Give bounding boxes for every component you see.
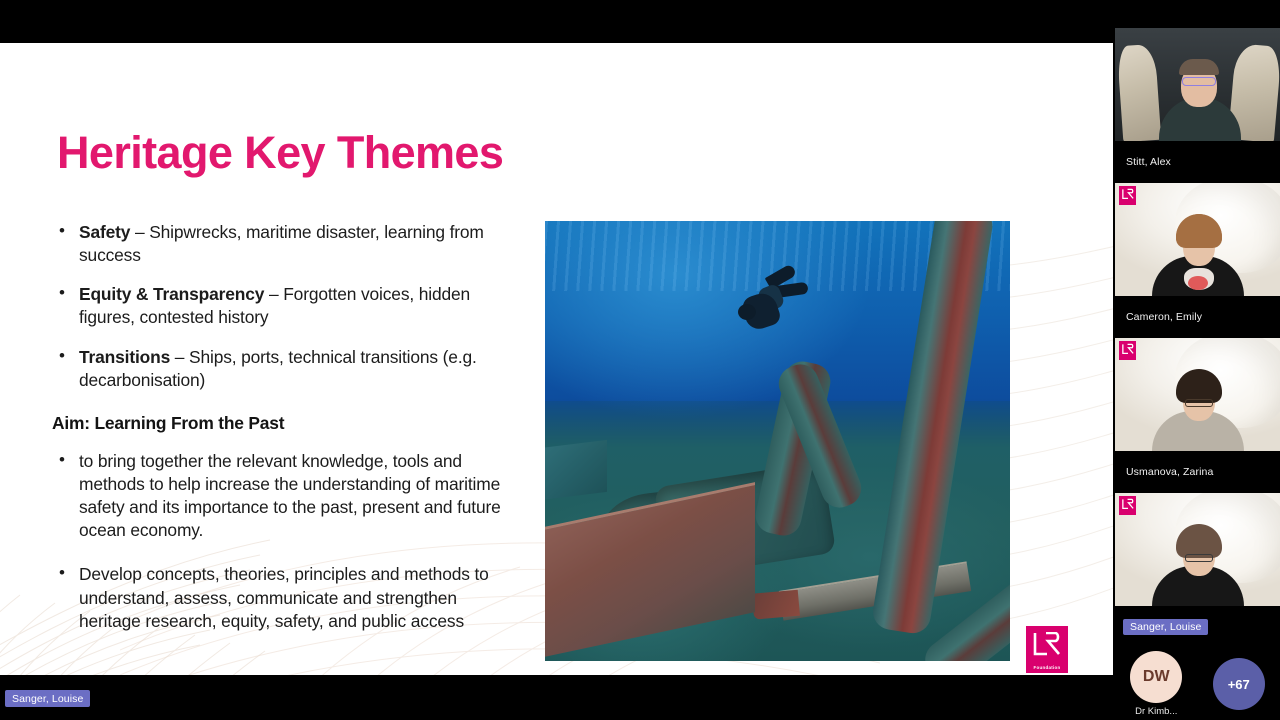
participant-nameplate: Sanger, Louise (1115, 606, 1280, 648)
lr-foundation-logo-icon (1119, 496, 1136, 515)
participant-video (1115, 183, 1280, 296)
lr-monogram-icon (1033, 632, 1061, 658)
participant-avatar-tile[interactable]: DW Dr Kimb... (1125, 651, 1187, 717)
participant-tile[interactable]: Stitt, Alex (1115, 28, 1280, 183)
list-item: Equity & Transparency – Forgotten voices… (52, 283, 522, 329)
participant-rail[interactable]: Stitt, Alex (1115, 28, 1280, 720)
participant-name: Usmanova, Zarina (1115, 466, 1213, 478)
page-title: Heritage Key Themes (57, 130, 503, 175)
avatar-initials: DW (1130, 651, 1182, 703)
bullet-lead: Transitions (79, 347, 170, 367)
bullet-rest: – Shipwrecks, maritime disaster, learnin… (79, 222, 484, 265)
participant-nameplate: Stitt, Alex (1115, 141, 1280, 183)
participant-video (1115, 493, 1280, 606)
bullet-lead: Safety (79, 222, 130, 242)
participant-video (1115, 28, 1280, 141)
participant-name: Stitt, Alex (1115, 156, 1171, 168)
participant-nameplate: Cameron, Emily (1115, 296, 1280, 338)
avatar (1165, 55, 1233, 141)
participant-tile[interactable]: Sanger, Louise (1115, 493, 1280, 648)
bullet-lead: Equity & Transparency (79, 284, 264, 304)
slide-image-shipwreck (545, 221, 1010, 661)
participant-overflow-row[interactable]: DW Dr Kimb... +67 (1115, 648, 1280, 720)
meeting-screen-share-view: Heritage Key Themes Safety – Shipwrecks,… (0, 0, 1280, 720)
avatar (1152, 361, 1244, 451)
participant-name: Dr Kimb... (1125, 706, 1187, 717)
aim-heading: Aim: Learning From the Past (52, 413, 522, 434)
participant-name-active-speaker: Sanger, Louise (1123, 619, 1208, 635)
shared-slide[interactable]: Heritage Key Themes Safety – Shipwrecks,… (0, 43, 1113, 675)
lr-foundation-logo: Foundation (1026, 626, 1068, 673)
list-item: to bring together the relevant knowledge… (52, 450, 522, 543)
participant-nameplate: Usmanova, Zarina (1115, 451, 1280, 493)
participant-video (1115, 338, 1280, 451)
list-item: Develop concepts, theories, principles a… (52, 563, 522, 632)
overflow-count-badge: +67 (1213, 658, 1265, 710)
list-item: Transitions – Ships, ports, technical tr… (52, 346, 522, 392)
logo-subtext: Foundation (1026, 665, 1068, 670)
participant-tile[interactable]: Usmanova, Zarina (1115, 338, 1280, 493)
avatar (1152, 516, 1244, 606)
list-item: Safety – Shipwrecks, maritime disaster, … (52, 221, 522, 267)
avatar (1152, 206, 1244, 296)
slide-body: Safety – Shipwrecks, maritime disaster, … (52, 221, 522, 649)
diver-figure (730, 276, 796, 346)
lr-foundation-logo-icon (1119, 186, 1136, 205)
lr-foundation-logo-icon (1119, 341, 1136, 360)
participant-overflow-count[interactable]: +67 (1208, 658, 1270, 710)
participant-name: Cameron, Emily (1115, 311, 1202, 323)
participant-tile[interactable]: Cameron, Emily (1115, 183, 1280, 338)
active-speaker-chip: Sanger, Louise (5, 690, 90, 707)
